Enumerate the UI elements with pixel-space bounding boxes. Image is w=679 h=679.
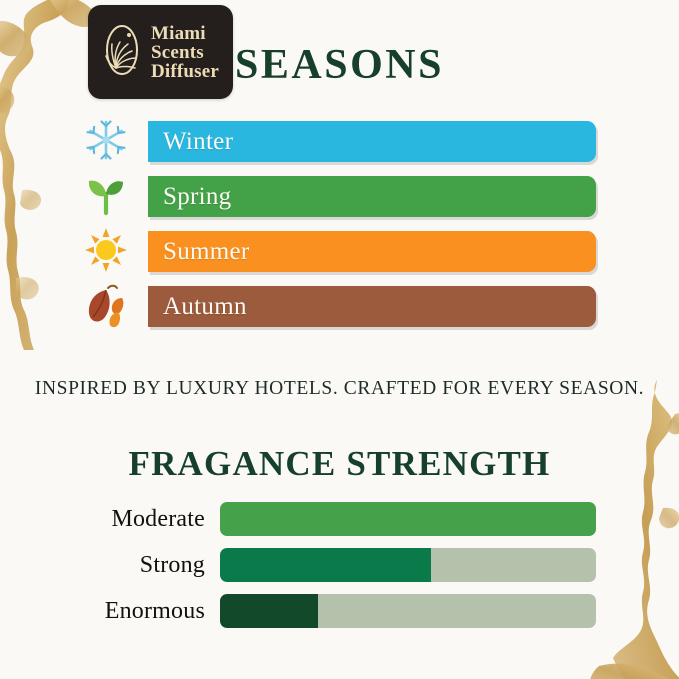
- strength-label-enormous: Enormous: [0, 592, 205, 630]
- strength-track-moderate: [220, 502, 596, 536]
- strength-label-strong: Strong: [0, 546, 205, 584]
- season-row-spring: Spring: [0, 176, 679, 217]
- season-row-winter: Winter: [0, 121, 679, 162]
- strength-track-strong: [220, 548, 596, 582]
- brand-line-1: Miami: [151, 24, 219, 43]
- strength-row-enormous: Enormous: [0, 592, 679, 630]
- season-bar-autumn: Autumn: [148, 286, 596, 327]
- sun-icon: [84, 227, 128, 273]
- strength-list: Moderate Strong Enormous: [0, 500, 679, 638]
- season-bar-winter: Winter: [148, 121, 596, 162]
- season-label-summer: Summer: [148, 238, 250, 266]
- seasons-list: Winter Spring: [0, 121, 679, 341]
- strength-fill-strong: [220, 548, 431, 582]
- strength-fill-enormous: [220, 594, 318, 628]
- season-label-autumn: Autumn: [148, 293, 247, 321]
- season-label-winter: Winter: [148, 128, 233, 156]
- strength-track-enormous: [220, 594, 596, 628]
- strength-fill-moderate: [220, 502, 596, 536]
- season-row-summer: Summer: [0, 231, 679, 272]
- snowflake-icon: [84, 117, 128, 163]
- strength-row-strong: Strong: [0, 546, 679, 584]
- strength-row-moderate: Moderate: [0, 500, 679, 538]
- season-label-spring: Spring: [148, 183, 231, 211]
- tagline: INSPIRED BY LUXURY HOTELS. CRAFTED FOR E…: [0, 378, 679, 400]
- seasons-title: SEASONS: [0, 41, 679, 89]
- season-row-autumn: Autumn: [0, 286, 679, 327]
- falling-leaves-icon: [84, 282, 128, 328]
- fragance-strength-title: FRAGANCE STRENGTH: [0, 444, 679, 484]
- season-bar-spring: Spring: [148, 176, 596, 217]
- infographic-canvas: Miami Scents Diffuser SEASONS: [0, 0, 679, 679]
- season-bar-summer: Summer: [148, 231, 596, 272]
- strength-label-moderate: Moderate: [0, 500, 205, 538]
- seedling-icon: [84, 172, 128, 218]
